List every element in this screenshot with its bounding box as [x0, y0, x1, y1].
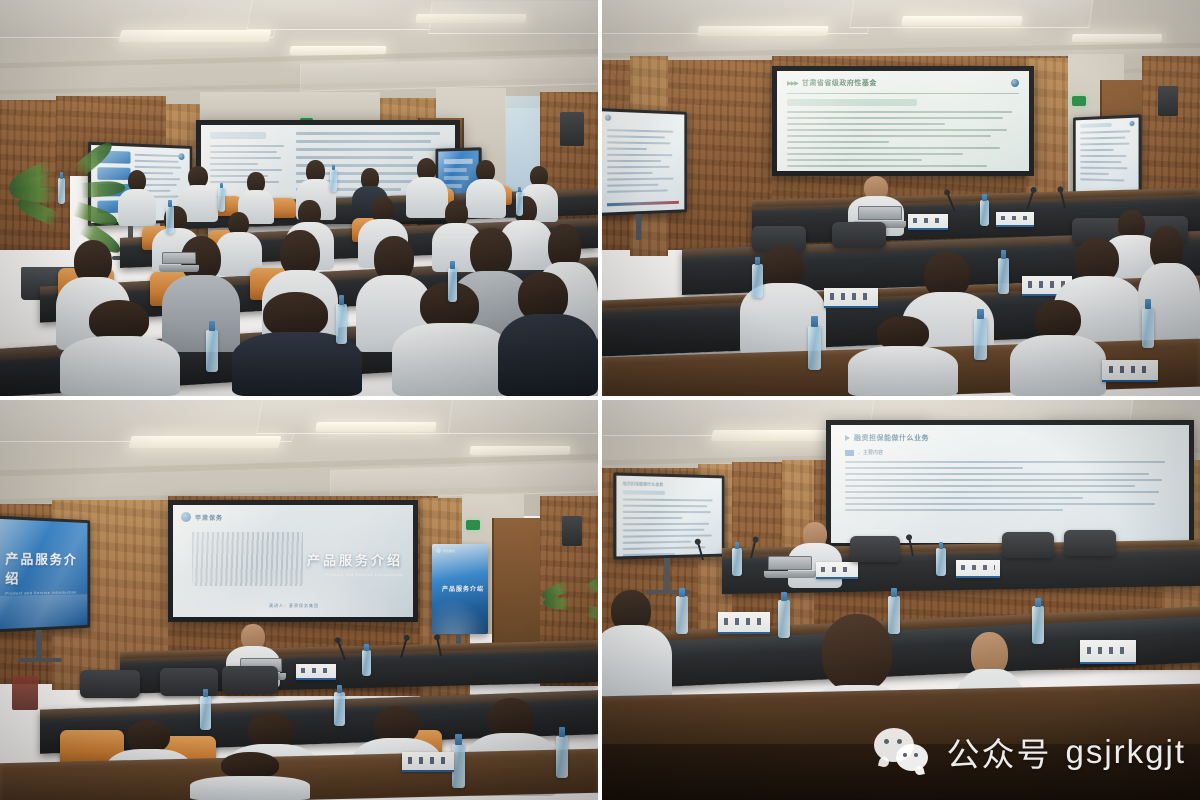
photo-panel-top-right: ▶▶▶ 甘肃省省级政府性基金 [602, 0, 1200, 396]
slide-subtitle: Product and Service Introduction [307, 572, 403, 577]
photo-collage: ▶▶▶ 甘肃省省级政府性基金 [0, 0, 1200, 800]
banner-title: 产品服务介绍 [442, 584, 484, 593]
name-placard [824, 288, 878, 308]
projection-screen: 甲肃保务 产品服务介绍 Product and Service Introduc… [168, 500, 418, 622]
photo-panel-bottom-left: 甲肃保务 产品服务介绍 Product and Service Introduc… [0, 400, 598, 800]
projection-screen: 融资担保能做什么业务 、主要内容 [826, 420, 1194, 548]
rollup-banner: 甲肃保务 产品服务介绍 [432, 544, 488, 634]
slide-title: 融资担保能做什么业务 [854, 433, 929, 443]
side-monitor-left: 融资担保能做什么业务 [613, 472, 724, 559]
name-placard [718, 612, 770, 634]
slide-title: 甘肃省省级政府性基金 [802, 78, 877, 88]
projection-screen: ▶▶▶ 甘肃省省级政府性基金 [772, 66, 1034, 176]
slide-presenter-line: 演讲人：甚肃保务集团 [269, 603, 319, 609]
photo-panel-top-left [0, 0, 598, 396]
photo-panel-bottom-right: 融资担保能做什么业务 [602, 400, 1200, 800]
side-monitor-left [602, 108, 687, 216]
monitor-title: 融资担保能做什么业务 [623, 481, 717, 489]
fire-extinguisher-box [12, 676, 38, 710]
monitor-title: 产品服务介绍 [5, 548, 87, 587]
company-name: 甲肃保务 [195, 513, 223, 522]
slide-bullet-prefix: ▶▶▶ [787, 80, 798, 87]
company-logo-icon [181, 512, 191, 522]
slide-bullet-icon [845, 435, 850, 441]
side-monitor-right [1073, 114, 1142, 199]
slide-title: 产品服务介绍 [307, 550, 403, 569]
side-monitor-left: 产品服务介绍 Product and Service Introduction [0, 515, 90, 632]
